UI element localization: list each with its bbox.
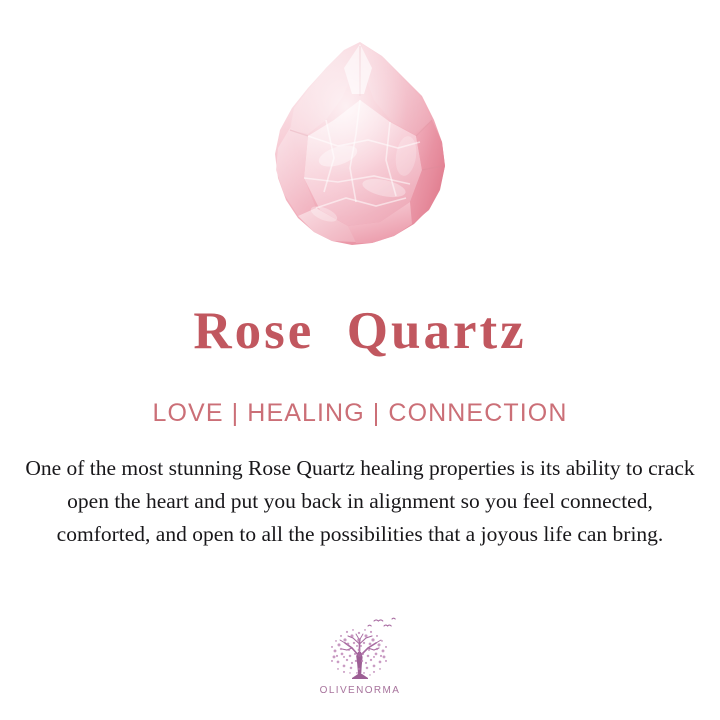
crystal-glow-overlay bbox=[275, 42, 445, 245]
olivenorma-tree-logo-icon bbox=[314, 612, 406, 684]
brand-logo: OLIVENORMA bbox=[0, 612, 720, 696]
rose-quartz-crystal-image bbox=[264, 38, 456, 253]
rose-quartz-crystal-icon bbox=[264, 38, 456, 253]
hero-image-area bbox=[0, 30, 720, 265]
description-paragraph: One of the most stunning Rose Quartz hea… bbox=[22, 452, 698, 551]
product-graphic-canvas: Rose Quartz LOVE | HEALING | CONNECTION … bbox=[0, 0, 720, 720]
brand-wordmark: OLIVENORMA bbox=[0, 685, 720, 696]
keyword-subtitle: LOVE | HEALING | CONNECTION bbox=[0, 398, 720, 428]
birds-icon bbox=[368, 618, 395, 626]
page-title: Rose Quartz bbox=[0, 303, 720, 360]
